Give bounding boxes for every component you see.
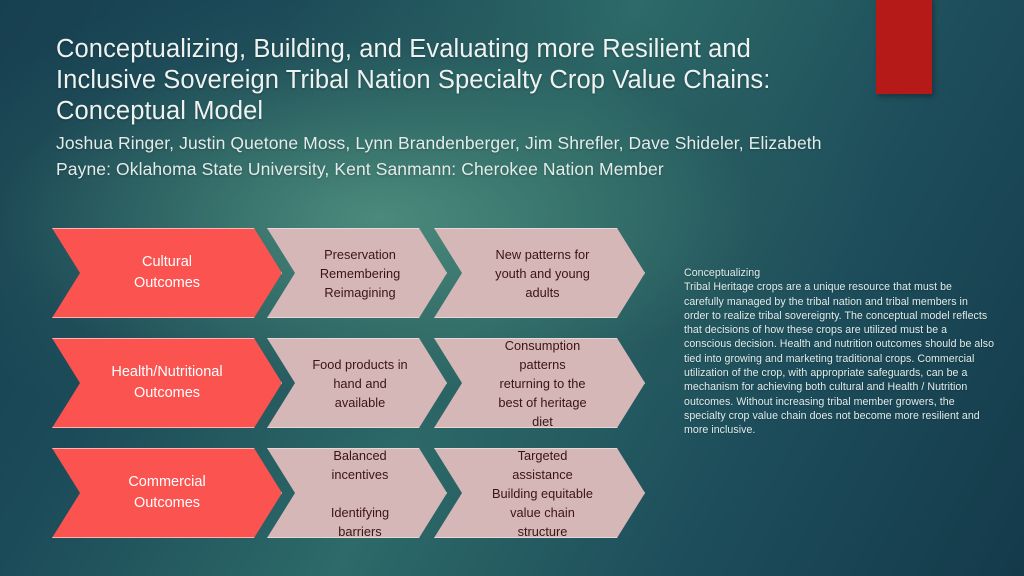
body-text-block: Conceptualizing Tribal Heritage crops ar… — [684, 266, 994, 438]
chevron-step-cultural-3[interactable]: New patterns for youth and young adults — [434, 228, 645, 318]
chevron-label: Targeted assistance Building equitable v… — [435, 446, 644, 541]
chevron-label: Balanced incentives Identifying barriers — [268, 446, 446, 541]
presentation-slide: Conceptualizing, Building, and Evaluatin… — [0, 0, 1024, 576]
chevron-step-health-2[interactable]: Food products in hand and available — [267, 338, 447, 428]
chevron-label: Health/Nutritional Outcomes — [53, 362, 281, 404]
chevron-process-diagram: Cultural Outcomes Preservation Rememberi… — [52, 228, 652, 558]
chevron-label: Commercial Outcomes — [53, 472, 281, 514]
diagram-row-cultural: Cultural Outcomes Preservation Rememberi… — [52, 228, 652, 318]
chevron-primary-health-nutritional-outcomes[interactable]: Health/Nutritional Outcomes — [52, 338, 282, 428]
chevron-step-health-3[interactable]: Consumption patterns returning to the be… — [434, 338, 645, 428]
authors-subtitle: Joshua Ringer, Justin Quetone Moss, Lynn… — [56, 131, 846, 182]
body-paragraph: Tribal Heritage crops are a unique resou… — [684, 280, 994, 437]
chevron-step-commercial-2[interactable]: Balanced incentives Identifying barriers — [267, 448, 447, 538]
diagram-row-commercial: Commercial Outcomes Balanced incentives … — [52, 448, 652, 538]
diagram-row-health-nutritional: Health/Nutritional Outcomes Food product… — [52, 338, 652, 428]
body-heading: Conceptualizing — [684, 266, 994, 280]
decorative-accent-rectangle — [876, 0, 932, 94]
chevron-label: New patterns for youth and young adults — [435, 245, 644, 302]
page-title: Conceptualizing, Building, and Evaluatin… — [56, 34, 846, 127]
chevron-label: Preservation Remembering Reimagining — [268, 245, 446, 302]
chevron-label: Food products in hand and available — [268, 355, 446, 412]
chevron-label: Consumption patterns returning to the be… — [435, 336, 644, 431]
chevron-primary-commercial-outcomes[interactable]: Commercial Outcomes — [52, 448, 282, 538]
chevron-label: Cultural Outcomes — [53, 252, 281, 294]
title-block: Conceptualizing, Building, and Evaluatin… — [56, 34, 846, 182]
chevron-primary-cultural-outcomes[interactable]: Cultural Outcomes — [52, 228, 282, 318]
chevron-step-cultural-2[interactable]: Preservation Remembering Reimagining — [267, 228, 447, 318]
chevron-step-commercial-3[interactable]: Targeted assistance Building equitable v… — [434, 448, 645, 538]
